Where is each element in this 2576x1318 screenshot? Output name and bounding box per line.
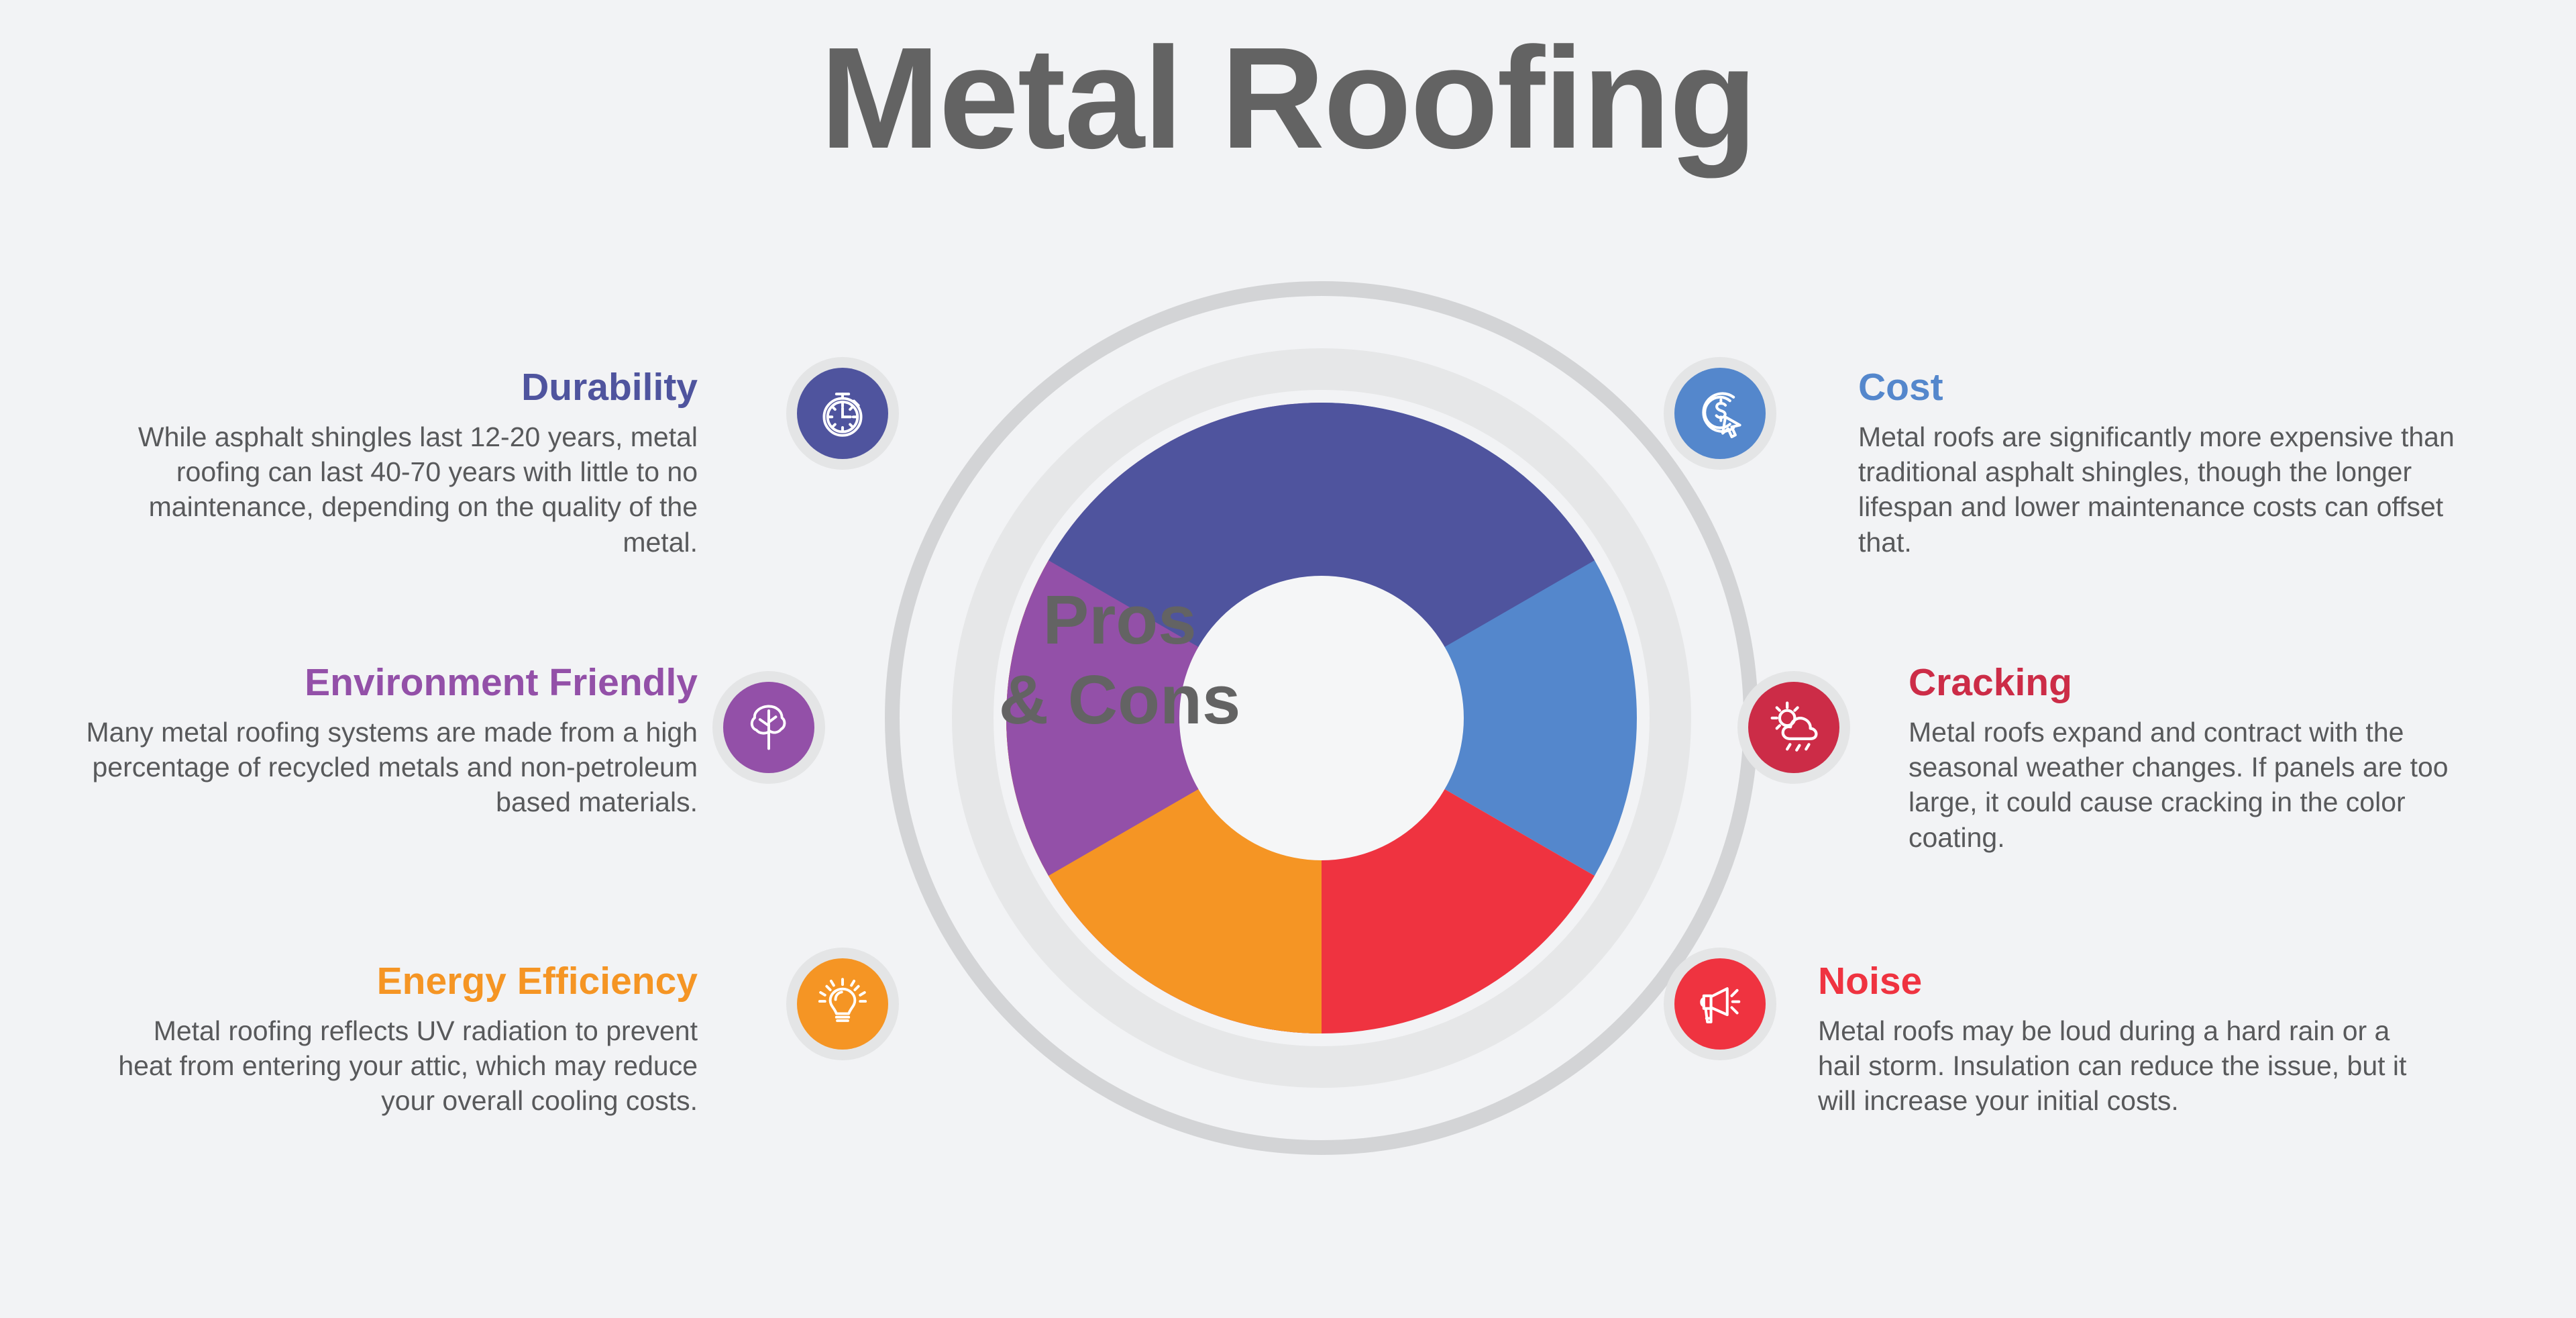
badge-environment-friendly[interactable]	[712, 671, 825, 784]
item-environment-friendly: Environment Friendly Many metal roofing …	[67, 661, 698, 820]
badge-cracking[interactable]	[1737, 671, 1850, 784]
item-body-cost: Metal roofs are significantly more expen…	[1858, 419, 2462, 560]
item-body-environment-friendly: Many metal roofing systems are made from…	[67, 715, 698, 820]
badge-disc-energy-efficiency	[797, 958, 888, 1050]
item-body-cracking: Metal roofs expand and contract with the…	[1909, 715, 2485, 856]
stopwatch-icon	[814, 385, 871, 442]
tree-icon	[741, 699, 797, 756]
item-heading-cost: Cost	[1858, 366, 2462, 410]
item-durability: Durability While asphalt shingles last 1…	[121, 366, 698, 560]
donut-hole	[1179, 576, 1464, 860]
item-body-energy-efficiency: Metal roofing reflects UV radiation to p…	[114, 1013, 698, 1119]
sun-cloud-rain-icon	[1764, 697, 1824, 758]
badge-durability[interactable]	[786, 357, 899, 470]
megaphone-icon	[1691, 975, 1749, 1033]
item-heading-noise: Noise	[1818, 960, 2422, 1004]
item-heading-environment-friendly: Environment Friendly	[67, 661, 698, 705]
badge-disc-cracking	[1748, 682, 1839, 773]
item-heading-cracking: Cracking	[1909, 661, 2485, 705]
item-noise: Noise Metal roofs may be loud during a h…	[1818, 960, 2422, 1119]
lightbulb-icon	[814, 976, 871, 1032]
pros-cons-donut-chart	[872, 268, 1771, 1168]
item-body-durability: While asphalt shingles last 12-20 years,…	[121, 419, 698, 560]
badge-energy-efficiency[interactable]	[786, 948, 899, 1060]
badge-disc-cost	[1674, 368, 1766, 459]
item-cracking: Cracking Metal roofs expand and contract…	[1909, 661, 2485, 855]
badge-disc-durability	[797, 368, 888, 459]
badge-noise[interactable]	[1664, 948, 1776, 1060]
item-cost: Cost Metal roofs are significantly more …	[1858, 366, 2462, 560]
donut-svg	[872, 268, 1771, 1168]
page-title: Metal Roofing	[0, 26, 2576, 170]
item-heading-durability: Durability	[121, 366, 698, 410]
badge-cost[interactable]	[1664, 357, 1776, 470]
item-body-noise: Metal roofs may be loud during a hard ra…	[1818, 1013, 2422, 1119]
infographic-canvas: Metal Roofing	[0, 0, 2576, 1318]
item-heading-energy-efficiency: Energy Efficiency	[114, 960, 698, 1004]
dollar-coin-cursor-icon	[1691, 385, 1749, 442]
badge-disc-noise	[1674, 958, 1766, 1050]
item-energy-efficiency: Energy Efficiency Metal roofing reflects…	[114, 960, 698, 1119]
badge-disc-environment-friendly	[723, 682, 814, 773]
